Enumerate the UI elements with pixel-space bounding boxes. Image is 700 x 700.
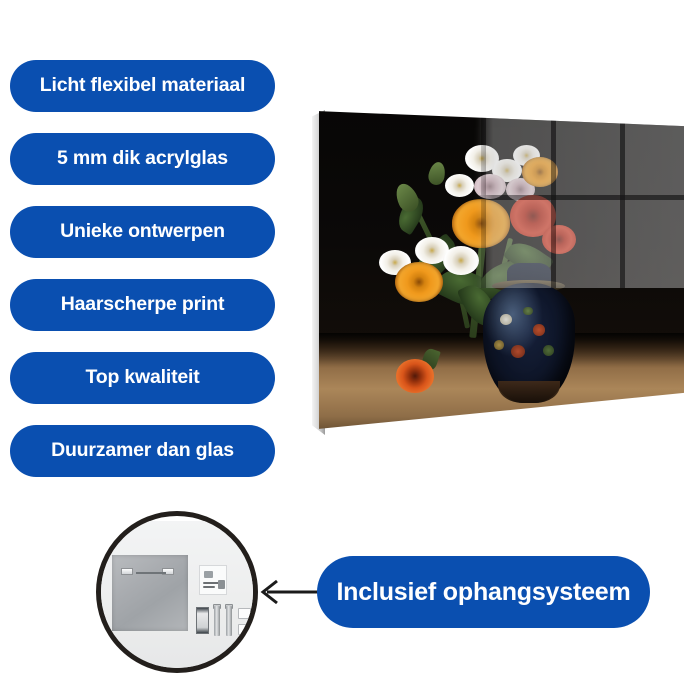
feature-badge-top-kwaliteit[interactable]: Top kwaliteit xyxy=(10,352,275,404)
reflection-mullion-vertical xyxy=(620,95,625,288)
feature-badge-list: Licht flexibel materiaal 5 mm dik acrylg… xyxy=(10,60,278,498)
glass-window-reflection xyxy=(472,95,684,288)
instruction-sheet-mark xyxy=(204,571,213,578)
instruction-sheet-mark xyxy=(218,580,225,589)
artwork-fallen-flower-head xyxy=(396,359,434,392)
artwork-vase-motif xyxy=(523,307,532,315)
feature-badge-5-mm-dik-acrylglas[interactable]: 5 mm dik acrylglas xyxy=(10,133,275,185)
feature-badge-licht-flexibel-materiaal[interactable]: Licht flexibel materiaal xyxy=(10,60,275,112)
hanging-system-badge[interactable]: Inclusief ophangsysteem xyxy=(317,556,650,628)
feature-badge-label: Top kwaliteit xyxy=(85,368,199,388)
artwork-vase-motif xyxy=(511,345,526,358)
instruction-sheet xyxy=(199,565,227,595)
mounting-kit-circle-callout xyxy=(96,511,258,673)
artwork-vase-motif xyxy=(500,314,512,325)
artwork-flower-bud xyxy=(427,160,447,186)
artwork-vase-motif xyxy=(494,340,504,350)
feature-badge-label: Duurzamer dan glas xyxy=(51,441,234,461)
feature-badge-unieke-ontwerpen[interactable]: Unieke ontwerpen xyxy=(10,206,275,258)
feature-badge-label: Haarscherpe print xyxy=(61,295,225,315)
panel-stage xyxy=(305,95,685,445)
feature-badge-label: Unieke ontwerpen xyxy=(60,222,225,242)
reflection-mullion-vertical xyxy=(481,95,486,288)
spirit-level-tool xyxy=(196,607,209,634)
artwork-fallen-flower xyxy=(396,359,434,392)
artwork-vase-motif xyxy=(533,324,546,336)
mounting-kit-photo xyxy=(96,521,258,671)
mounting-screw xyxy=(214,606,220,636)
artwork-face xyxy=(319,95,684,445)
feature-badge-label: Licht flexibel materiaal xyxy=(40,76,245,96)
instruction-sheet-line xyxy=(203,582,219,584)
artwork-flower-white xyxy=(445,174,474,197)
instruction-sheet-line xyxy=(203,586,215,588)
reflection-mullion-vertical xyxy=(551,95,556,288)
adhesive-pad xyxy=(238,608,251,619)
mounting-plate-line xyxy=(136,572,166,574)
product-image-acrylic-print[interactable] xyxy=(305,95,685,445)
adhesive-pad xyxy=(238,624,251,635)
feature-badge-duurzamer-dan-glas[interactable]: Duurzamer dan glas xyxy=(10,425,275,477)
reflection-mullion-horizontal xyxy=(472,195,684,200)
mounting-plate xyxy=(112,555,188,631)
artwork-flower-orange xyxy=(395,262,443,302)
artwork-still-life xyxy=(319,95,684,445)
mounting-plate-clip xyxy=(121,568,133,575)
hanging-system-badge-label: Inclusief ophangsysteem xyxy=(336,578,630,607)
wall-plug xyxy=(226,606,232,636)
reflection-mullion-horizontal xyxy=(472,99,684,104)
artwork-vase-base xyxy=(498,381,560,403)
feature-badge-label: 5 mm dik acrylglas xyxy=(57,149,228,169)
artwork-vase-motif xyxy=(543,345,554,356)
feature-badge-haarscherpe-print[interactable]: Haarscherpe print xyxy=(10,279,275,331)
